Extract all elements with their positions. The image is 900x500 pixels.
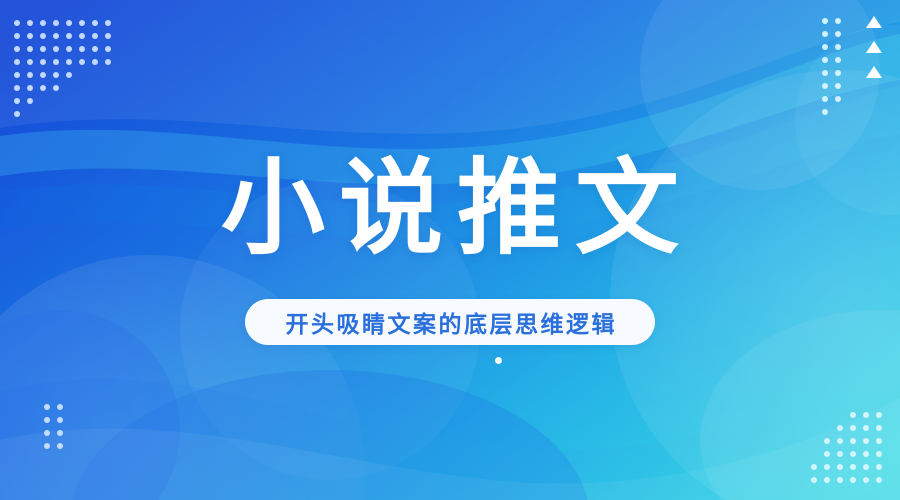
subtitle-pill: 开头吸睛文案的底层思维逻辑 — [245, 299, 655, 345]
poster-canvas: 小说推文 开头吸睛文案的底层思维逻辑 — [0, 0, 900, 500]
accent-dot — [495, 357, 502, 364]
poster-subtitle: 开头吸睛文案的底层思维逻辑 — [283, 305, 617, 339]
poster-content: 小说推文 开头吸睛文案的底层思维逻辑 — [0, 0, 900, 500]
poster-title: 小说推文 — [207, 155, 693, 264]
